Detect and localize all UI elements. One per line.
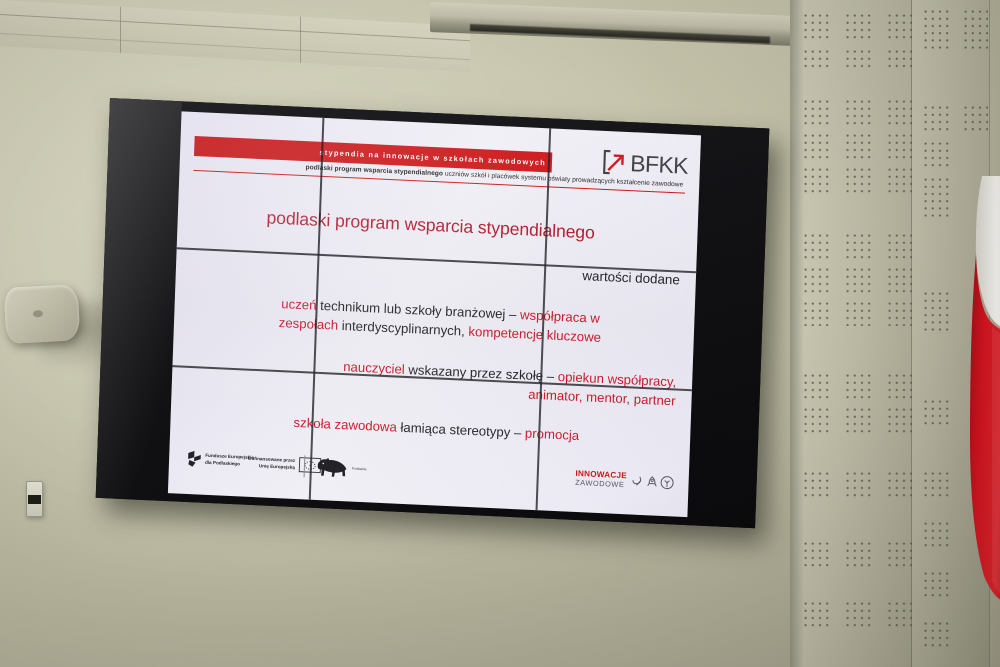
- fundusze-mark-icon: [187, 450, 203, 468]
- slide-subtitle: wartości dodane: [582, 268, 680, 287]
- innowacje-icon-set: [630, 473, 674, 490]
- rocket-circle-icon: [645, 474, 659, 490]
- run-zespolach: zespołach: [279, 315, 343, 333]
- run-interdyscyplinarnych: interdyscyplinarnych,: [342, 318, 469, 339]
- run-szkola-zawodowa: szkoła zawodowa: [293, 415, 400, 435]
- dofinansowanie-logo: Dofinansowane przez Unię Europejską: [248, 455, 321, 473]
- fundusze-europejskie-logo: Fundusze Europejskie dla Podlaskiego: [187, 450, 254, 470]
- slide-block-szkola: szkoła zawodowa łamiąca stereotypy – pro…: [198, 408, 674, 449]
- slide-block-nauczyciel: nauczyciel wskazany przez szkołę – opiek…: [200, 350, 677, 411]
- bison-caption: Podlaskie: [352, 467, 367, 472]
- bfkk-logo: BFKK: [602, 149, 689, 179]
- room-photo-scene: stypendia na innowacje w szkołach zawodo…: [0, 0, 1000, 667]
- fundusze-text: Fundusze Europejskie dla Podlaskiego: [205, 453, 254, 467]
- innowacje-zawodowe-logo: INNOWACJE ZAWODOWE: [575, 470, 675, 491]
- panel-wall-shadow: [790, 0, 804, 667]
- run-lamiaca: łamiąca stereotypy –: [400, 420, 525, 441]
- header-banner-text: stypendia na innowacje w szkołach zawodo…: [319, 147, 552, 167]
- slide-title: podlaski program wsparcia stypendialnego: [178, 203, 684, 247]
- run-wspolpraca: współpraca w: [520, 307, 600, 326]
- light-switch-plate[interactable]: [26, 481, 43, 517]
- polish-flag: [930, 176, 1000, 646]
- slide-footer: Fundusze Europejskie dla Podlaskiego Dof…: [168, 445, 689, 503]
- bracket-arrow-icon: [602, 149, 629, 176]
- tree-circle-icon: [659, 474, 675, 490]
- run-uczen: uczeń: [281, 296, 320, 313]
- run-wskazany: wskazany przez szkołę –: [408, 362, 558, 384]
- bison-icon: [315, 456, 350, 480]
- wall-speaker: [4, 284, 81, 344]
- slide-block-uczen: uczeń technikum lub szkoły branżowej – w…: [202, 291, 679, 352]
- innowacje-line2: ZAWODOWE: [575, 479, 627, 489]
- slide-header: stypendia na innowacje w szkołach zawodo…: [179, 127, 701, 213]
- run-animator: animator, mentor, partner: [528, 387, 676, 409]
- leaf-circle-icon: [630, 473, 644, 489]
- video-wall-display[interactable]: stypendia na innowacje w szkołach zawodo…: [96, 98, 770, 528]
- innowacje-text: INNOWACJE ZAWODOWE: [575, 470, 627, 489]
- dofinansowanie-text: Dofinansowane przez Unię Europejską: [248, 456, 295, 470]
- bfkk-wordmark: BFKK: [630, 152, 688, 178]
- run-promocja: promocja: [525, 426, 580, 443]
- run-opiekun: opiekun współpracy,: [558, 369, 677, 389]
- podlaskie-bison-logo: Podlaskie: [315, 456, 367, 480]
- presentation-slide: stypendia na innowacje w szkołach zawodo…: [168, 111, 701, 517]
- run-nauczyciel: nauczyciel: [343, 359, 409, 377]
- run-kompetencje: kompetencje kluczowe: [468, 324, 601, 345]
